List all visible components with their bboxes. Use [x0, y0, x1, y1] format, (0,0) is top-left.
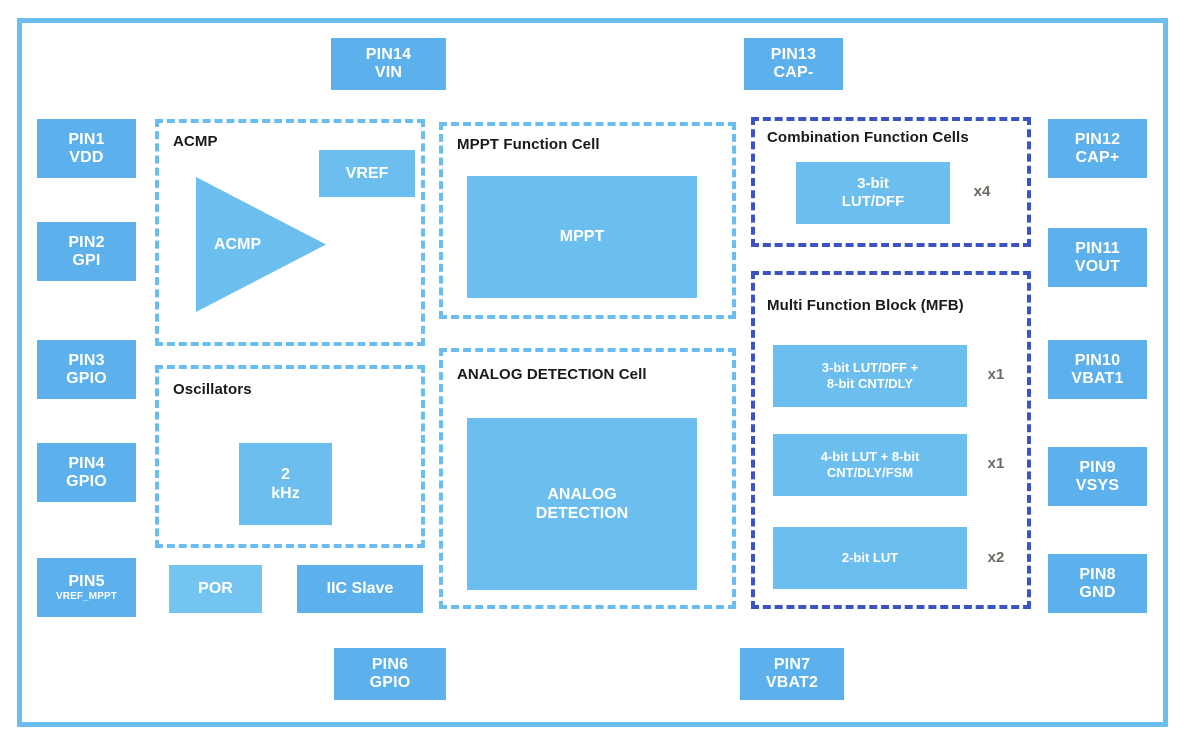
pin-number: PIN2: [68, 234, 104, 252]
pin-label: VSYS: [1076, 477, 1120, 495]
pin-number: PIN13: [771, 46, 816, 64]
block-oscillator-2khz[interactable]: 2 kHz: [239, 443, 332, 525]
block-por[interactable]: POR: [169, 565, 262, 613]
block-diagram-canvas: PIN14 VIN PIN13 CAP- PIN1 VDD PIN2 GPI P…: [0, 0, 1184, 746]
pin-label: CAP+: [1076, 149, 1120, 167]
pin-bottom-7[interactable]: PIN7 VBAT2: [740, 648, 844, 700]
group-title-acmp: ACMP: [173, 133, 218, 150]
pin-right-11[interactable]: PIN11 VOUT: [1048, 228, 1147, 287]
block-mfb-row-3-line1: 2-bit LUT: [842, 550, 898, 566]
block-por-label: POR: [198, 579, 233, 598]
oscillator-unit: kHz: [271, 484, 299, 503]
pin-number: PIN5: [68, 573, 104, 591]
pin-label: CAP-: [774, 64, 814, 82]
pin-label: GPIO: [370, 674, 411, 692]
acmp-triangle-label: ACMP: [214, 236, 261, 254]
pin-number: PIN4: [68, 455, 104, 473]
pin-right-9[interactable]: PIN9 VSYS: [1048, 447, 1147, 506]
multiplier-combination: x4: [962, 183, 1002, 200]
pin-label: VBAT2: [766, 674, 818, 692]
pin-number: PIN6: [372, 656, 408, 674]
block-mfb-row-2-line1: 4-bit LUT + 8-bit: [821, 449, 920, 465]
pin-label: GPIO: [66, 370, 107, 388]
multiplier-mfb-row-2: x1: [976, 455, 1016, 472]
block-iic-slave-label: IIC Slave: [327, 579, 394, 598]
pin-label: VBAT1: [1071, 370, 1123, 388]
pin-left-4[interactable]: PIN4 GPIO: [37, 443, 136, 502]
block-combination-line2: LUT/DFF: [842, 193, 904, 211]
pin-number: PIN12: [1075, 131, 1120, 149]
block-analog-detection-line1: ANALOG: [547, 485, 616, 504]
pin-number: PIN11: [1075, 240, 1120, 258]
pin-number: PIN3: [68, 352, 104, 370]
block-analog-detection[interactable]: ANALOG DETECTION: [467, 418, 697, 590]
group-title-mfb: Multi Function Block (MFB): [767, 297, 964, 314]
pin-label: GND: [1079, 584, 1115, 602]
pin-right-8[interactable]: PIN8 GND: [1048, 554, 1147, 613]
pin-top-13[interactable]: PIN13 CAP-: [744, 38, 843, 90]
pin-label: VIN: [375, 64, 402, 82]
block-combination-lut-dff[interactable]: 3-bit LUT/DFF: [796, 162, 950, 224]
block-mfb-row-3[interactable]: 2-bit LUT: [773, 527, 967, 589]
block-vref[interactable]: VREF: [319, 150, 415, 197]
pin-top-14[interactable]: PIN14 VIN: [331, 38, 446, 90]
group-title-mppt: MPPT Function Cell: [457, 136, 600, 153]
pin-label: GPI: [72, 252, 100, 270]
oscillator-value: 2: [281, 465, 290, 484]
pin-label: VOUT: [1075, 258, 1120, 276]
block-mfb-row-1[interactable]: 3-bit LUT/DFF + 8-bit CNT/DLY: [773, 345, 967, 407]
group-title-analog-detection: ANALOG DETECTION Cell: [457, 366, 647, 383]
pin-number: PIN9: [1079, 459, 1115, 477]
block-iic-slave[interactable]: IIC Slave: [297, 565, 423, 613]
pin-right-12[interactable]: PIN12 CAP+: [1048, 119, 1147, 178]
pin-left-5[interactable]: PIN5 VREF_MPPT: [37, 558, 136, 617]
multiplier-mfb-row-1: x1: [976, 366, 1016, 383]
block-mppt[interactable]: MPPT: [467, 176, 697, 298]
block-analog-detection-line2: DETECTION: [536, 504, 628, 523]
pin-left-3[interactable]: PIN3 GPIO: [37, 340, 136, 399]
pin-number: PIN14: [366, 46, 411, 64]
pin-number: PIN1: [68, 131, 104, 149]
pin-label: VREF_MPPT: [56, 591, 117, 602]
group-title-oscillators: Oscillators: [173, 381, 252, 398]
multiplier-mfb-row-3: x2: [976, 549, 1016, 566]
pin-label: GPIO: [66, 473, 107, 491]
acmp-comparator-symbol: ACMP: [196, 177, 326, 312]
block-combination-line1: 3-bit: [857, 175, 889, 193]
block-mfb-row-1-line1: 3-bit LUT/DFF +: [822, 360, 918, 376]
block-mppt-label: MPPT: [560, 227, 604, 246]
pin-number: PIN7: [774, 656, 810, 674]
pin-number: PIN8: [1079, 566, 1115, 584]
pin-bottom-6[interactable]: PIN6 GPIO: [334, 648, 446, 700]
block-mfb-row-2[interactable]: 4-bit LUT + 8-bit CNT/DLY/FSM: [773, 434, 967, 496]
pin-number: PIN10: [1075, 352, 1120, 370]
pin-right-10[interactable]: PIN10 VBAT1: [1048, 340, 1147, 399]
block-mfb-row-1-line2: 8-bit CNT/DLY: [827, 376, 913, 392]
block-mfb-row-2-line2: CNT/DLY/FSM: [827, 465, 913, 481]
pin-label: VDD: [69, 149, 103, 167]
pin-left-1[interactable]: PIN1 VDD: [37, 119, 136, 178]
block-vref-label: VREF: [346, 164, 389, 183]
pin-left-2[interactable]: PIN2 GPI: [37, 222, 136, 281]
group-title-combination: Combination Function Cells: [767, 129, 969, 146]
